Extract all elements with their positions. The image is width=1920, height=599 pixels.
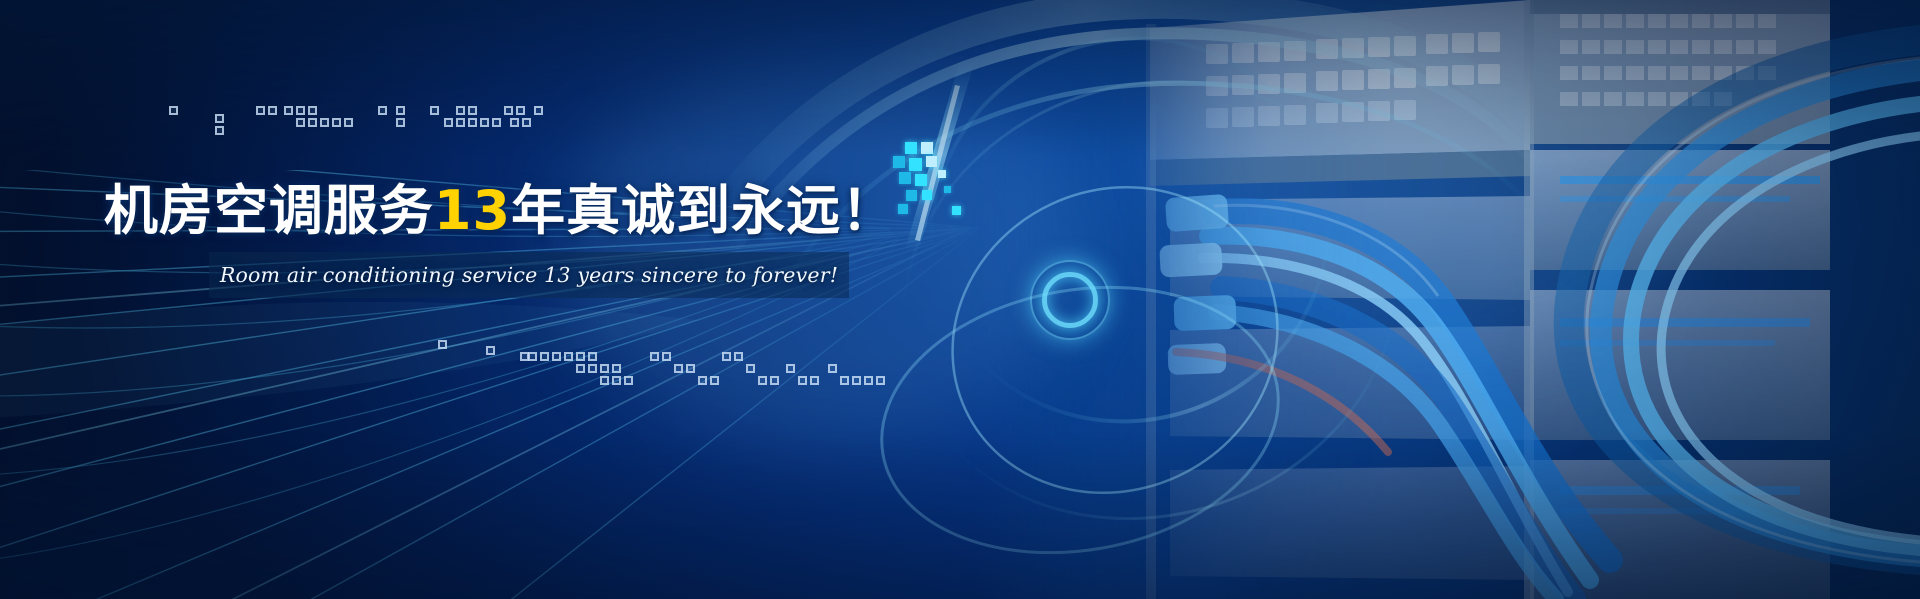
- page-title: 机房空调服务13年真诚到永远！: [0, 166, 1000, 245]
- headline-prefix: 机房空调服务: [104, 179, 434, 242]
- hero-banner: 机房空调服务13年真诚到永远！ Room air conditioning se…: [0, 0, 1920, 599]
- subtitle: Room air conditioning service 13 years s…: [209, 252, 849, 298]
- headline-accent-years: 13: [434, 179, 511, 242]
- headline-suffix: 年真诚到永远！: [511, 179, 896, 242]
- cyan-pixel-cluster-icon: [0, 0, 1920, 599]
